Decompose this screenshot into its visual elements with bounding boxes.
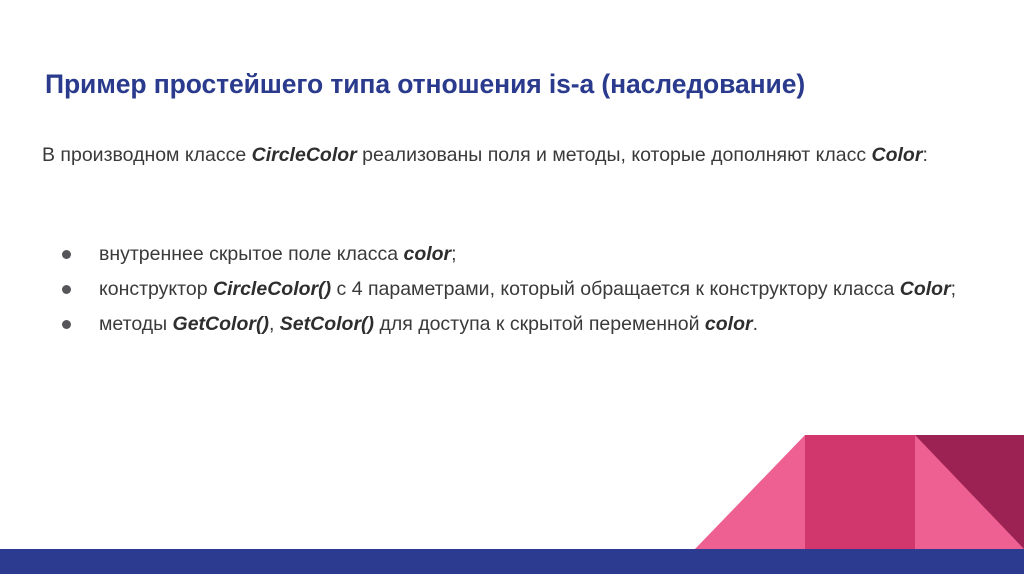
bullet-2-part3: ; <box>951 278 956 300</box>
list-item: конструктор CircleColor() с 4 параметрам… <box>62 273 986 306</box>
ornament-svg <box>680 418 1024 550</box>
list-item: внутреннее скрытое поле класса color; <box>62 238 986 271</box>
intro-code-circlecolor: CircleColor <box>252 144 357 166</box>
bullet-disc-icon <box>62 320 71 329</box>
bullet-2-part2: с 4 параметрами, который обращается к ко… <box>331 278 900 300</box>
ornament-mid-pink-block <box>805 435 915 549</box>
bullet-disc-icon <box>62 250 71 259</box>
bullet-1-part2: ; <box>451 243 456 265</box>
intro-text-part2: реализованы поля и методы, которые допол… <box>357 144 872 166</box>
bullet-2-code-color: Color <box>900 278 951 300</box>
bullet-1-part1: внутреннее скрытое поле класса <box>99 243 403 265</box>
bullet-3-part1: методы <box>99 313 173 335</box>
bullet-item-1-text: внутреннее скрытое поле класса color; <box>99 238 986 271</box>
bullet-disc-icon <box>62 285 71 294</box>
bullet-3-code-getcolor: GetColor() <box>173 313 269 335</box>
bullet-3-part4: . <box>753 313 758 335</box>
intro-paragraph-block: В производном классе CircleColor реализо… <box>42 140 986 171</box>
bullet-2-part1: конструктор <box>99 278 213 300</box>
intro-code-color: Color <box>872 144 923 166</box>
intro-paragraph: В производном классе CircleColor реализо… <box>42 140 986 171</box>
bullet-3-code-setcolor: SetColor() <box>280 313 374 335</box>
bullet-3-code-color: color <box>705 313 753 335</box>
list-item: методы GetColor(), SetColor() для доступ… <box>62 308 986 341</box>
slide-canvas: Пример простейшего типа отношения is-a (… <box>0 0 1024 574</box>
intro-text-part3: : <box>922 144 927 166</box>
bullet-2-code-circlecolor-ctor: CircleColor() <box>213 278 331 300</box>
bottom-accent-bar <box>0 549 1024 574</box>
intro-text-part1: В производном классе <box>42 144 252 166</box>
ornament-light-pink-left-wedge <box>695 435 805 549</box>
bullet-3-part2: , <box>269 313 280 335</box>
bullet-1-code-color: color <box>403 243 451 265</box>
feature-bullet-list: внутреннее скрытое поле класса color; ко… <box>62 238 986 343</box>
bullet-item-3-text: методы GetColor(), SetColor() для доступ… <box>99 308 986 341</box>
page-title: Пример простейшего типа отношения is-a (… <box>45 69 985 101</box>
bullet-3-part3: для доступа к скрытой переменной <box>374 313 705 335</box>
triangular-chevron-ornament <box>680 418 1024 550</box>
bullet-item-2-text: конструктор CircleColor() с 4 параметрам… <box>99 273 986 306</box>
